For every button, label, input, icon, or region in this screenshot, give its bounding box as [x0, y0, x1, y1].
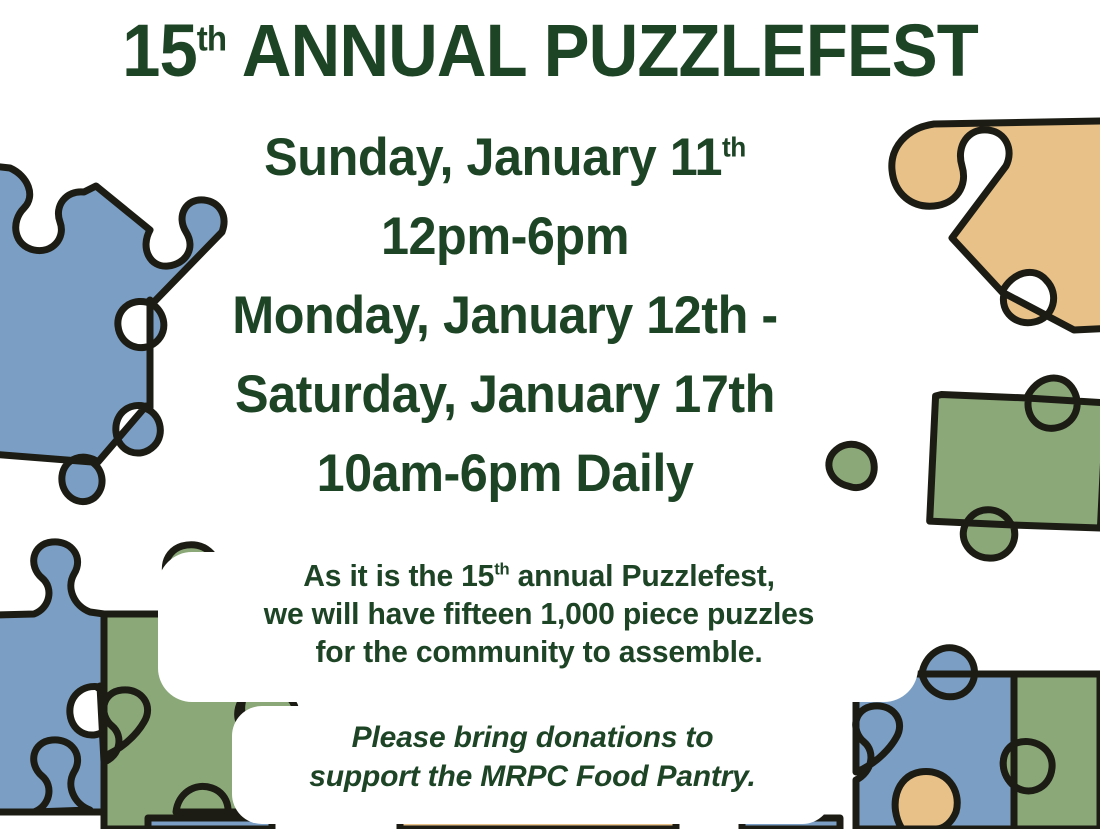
description-text: annual Puzzlefest, — [509, 558, 774, 593]
schedule-text: Sunday, January 11 — [264, 128, 722, 187]
description-line-1: As it is the 15th annual Puzzlefest, — [179, 557, 899, 595]
title-ordinal-suffix: th — [197, 18, 226, 58]
poster-text-layer: 15th ANNUAL PUZZLEFEST Sunday, January 1… — [0, 0, 1100, 829]
title-ordinal-number: 15 — [122, 9, 197, 92]
title-main-text: ANNUAL PUZZLEFEST — [242, 9, 978, 92]
description-text: As it is the 15 — [303, 558, 494, 593]
schedule-text: Saturday, January 17th — [235, 365, 775, 424]
donation-line-1: Please bring donations to — [240, 718, 825, 757]
puzzlefest-poster: 15th ANNUAL PUZZLEFEST Sunday, January 1… — [0, 0, 1100, 829]
description-ordinal-suffix: th — [494, 560, 509, 579]
schedule-line-weekday-start: Monday, January 12th - — [130, 276, 881, 355]
donation-request: Please bring donations to support the MR… — [240, 718, 825, 796]
event-description: As it is the 15th annual Puzzlefest, we … — [168, 557, 910, 671]
schedule-line-sunday-hours: 12pm-6pm — [130, 197, 881, 276]
schedule-ordinal-suffix: th — [722, 131, 746, 162]
schedule-text: 10am-6pm Daily — [317, 444, 694, 503]
page-title: 15th ANNUAL PUZZLEFEST — [39, 8, 1062, 94]
schedule-line-weekday-hours: 10am-6pm Daily — [130, 434, 881, 513]
schedule-line-sunday-date: Sunday, January 11th — [130, 118, 881, 197]
schedule-text: 12pm-6pm — [381, 207, 629, 266]
description-line-3: for the community to assemble. — [179, 633, 899, 671]
schedule-text: Monday, January 12th - — [232, 286, 777, 345]
schedule-line-weekday-end: Saturday, January 17th — [130, 355, 881, 434]
description-line-2: we will have fifteen 1,000 piece puzzles — [179, 595, 899, 633]
donation-line-2: support the MRPC Food Pantry. — [240, 757, 825, 796]
event-schedule: Sunday, January 11th 12pm-6pm Monday, Ja… — [110, 118, 900, 513]
